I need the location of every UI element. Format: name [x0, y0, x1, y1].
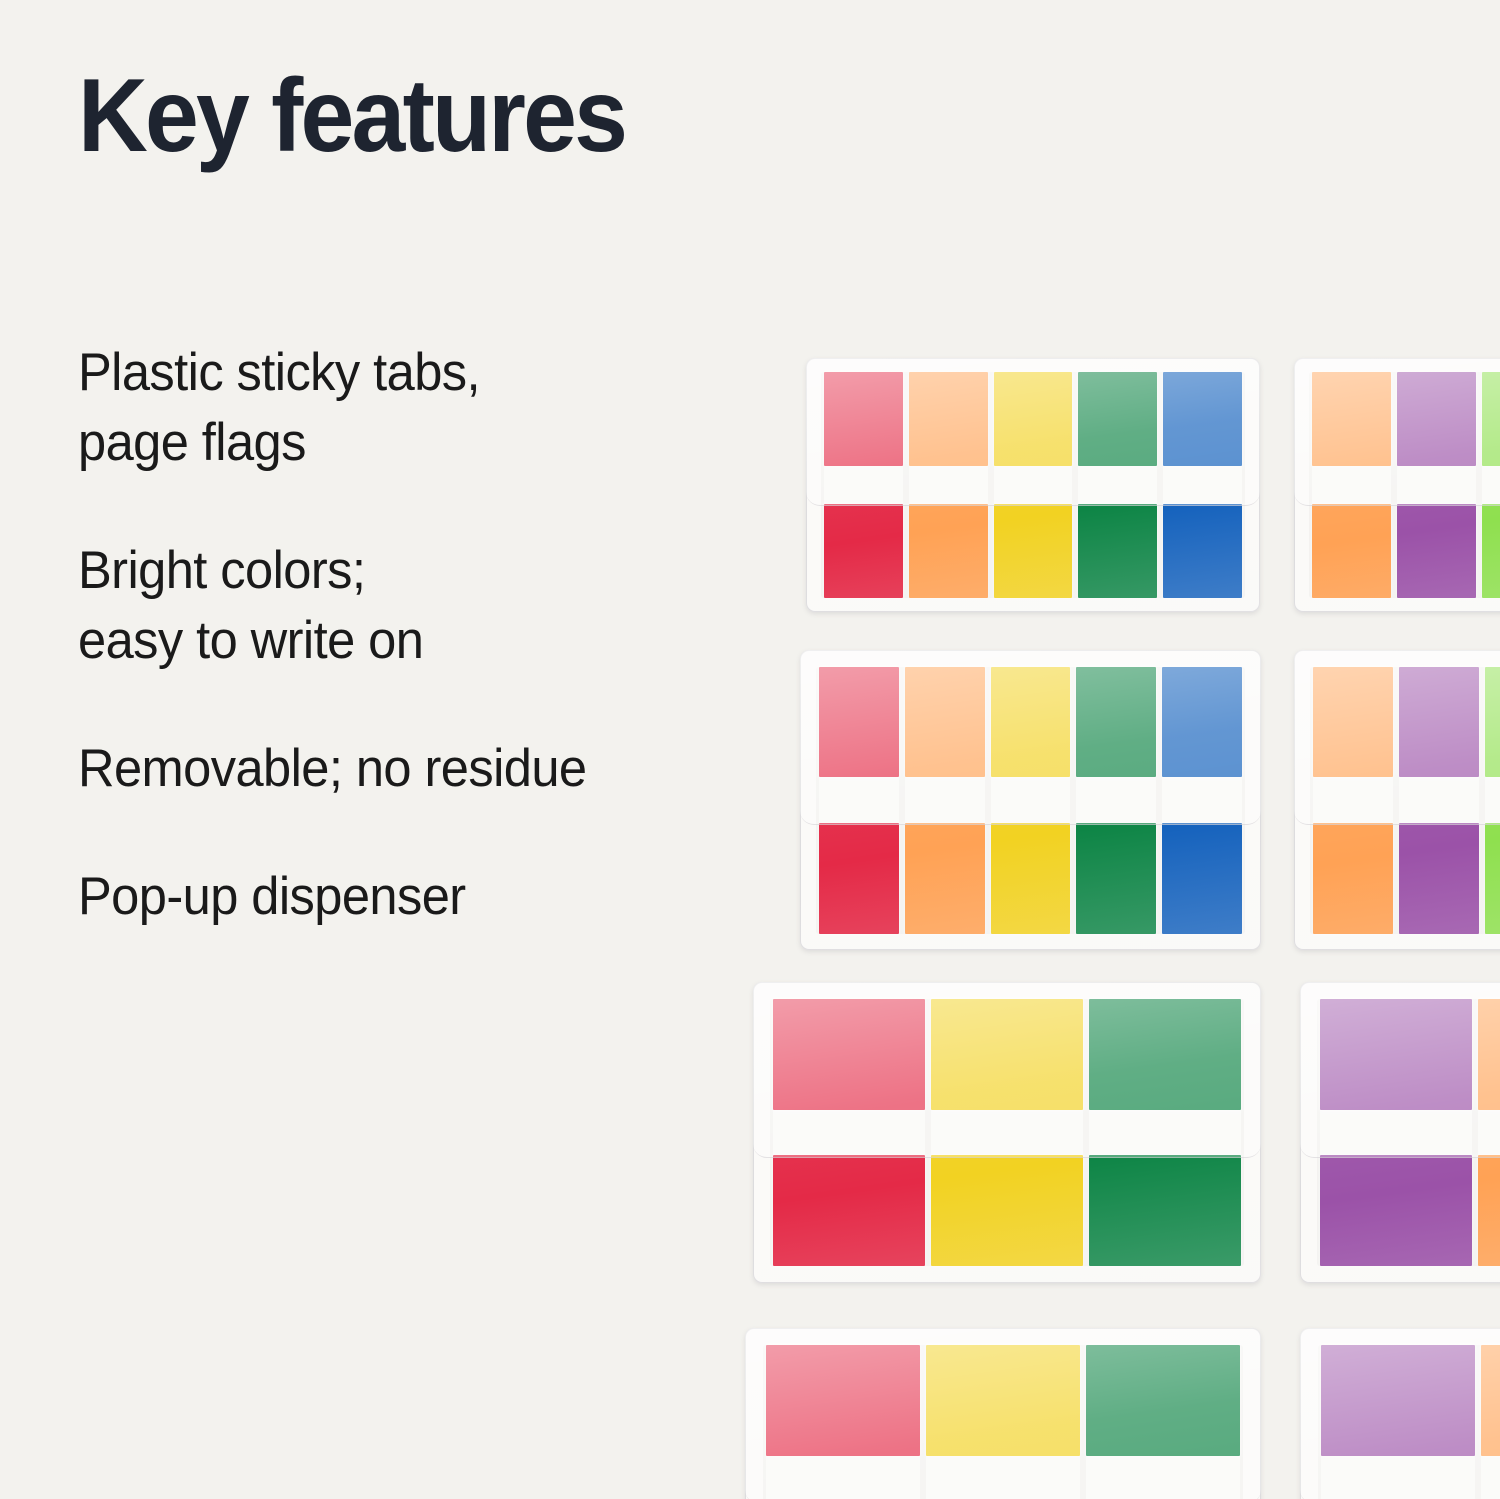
flag-bottom	[931, 1155, 1083, 1266]
feature-item-1: Plastic sticky tabs, page flags	[78, 338, 747, 478]
flag-column	[1310, 667, 1396, 934]
feature-text-column: Key features Plastic sticky tabs, page f…	[78, 0, 778, 1499]
flag-write-on-band	[819, 777, 899, 822]
flag-write-on-band	[1312, 466, 1391, 504]
flag-top	[1320, 999, 1472, 1110]
flag-top	[1482, 372, 1500, 466]
flag-column	[816, 667, 902, 934]
flag-bottom	[1078, 504, 1157, 598]
flag-bottom	[1313, 823, 1393, 934]
flag-column	[1083, 1345, 1243, 1499]
flag-column	[1317, 999, 1475, 1267]
flag-column	[1479, 372, 1500, 598]
flag-top	[991, 667, 1071, 778]
flag-column	[906, 372, 991, 598]
flag-bottom	[905, 823, 985, 934]
flag-bottom	[1162, 823, 1242, 934]
flag-write-on-band	[1485, 777, 1500, 822]
flag-bottom	[1485, 823, 1500, 934]
flag-bottom	[1399, 823, 1479, 934]
flag-top	[1078, 372, 1157, 466]
wide-flag-dispenser-bright-1	[1300, 982, 1500, 1283]
key-features-panel: Key features Plastic sticky tabs, page f…	[0, 0, 1500, 1499]
flag-bottom	[1163, 504, 1242, 598]
flag-top	[824, 372, 903, 466]
flag-column	[1309, 372, 1394, 598]
flag-column	[763, 1345, 923, 1499]
flag-column	[770, 999, 928, 1267]
flag-top	[1321, 1345, 1475, 1456]
flag-bottom	[909, 504, 988, 598]
flag-write-on-band	[1313, 777, 1393, 822]
flag-column	[1318, 1345, 1478, 1499]
flag-top	[773, 999, 925, 1110]
flag-top	[994, 372, 1073, 466]
flag-write-on-band	[1089, 1110, 1241, 1156]
flag-column	[923, 1345, 1083, 1499]
flag-top	[1163, 372, 1242, 466]
flag-columns	[1310, 667, 1500, 934]
flag-top	[1313, 667, 1393, 778]
feature-item-2: Bright colors; easy to write on	[78, 536, 747, 676]
feature-item-4: Pop-up dispenser	[78, 862, 747, 932]
flag-top	[1399, 667, 1479, 778]
flag-write-on-band	[1478, 1110, 1500, 1156]
flag-write-on-band	[1397, 466, 1476, 504]
flag-columns	[763, 1345, 1244, 1499]
flag-write-on-band	[931, 1110, 1083, 1156]
wide-flag-dispenser-bright-2	[1300, 1328, 1500, 1499]
flag-write-on-band	[1321, 1456, 1475, 1499]
flag-bottom	[991, 823, 1071, 934]
wide-flag-dispenser-classic-1	[753, 982, 1261, 1283]
flag-top	[766, 1345, 920, 1456]
flag-column	[1073, 667, 1159, 934]
flag-top	[819, 667, 899, 778]
flag-top	[909, 372, 988, 466]
flag-write-on-band	[909, 466, 988, 504]
flag-write-on-band	[1320, 1110, 1472, 1156]
flag-bottom	[1076, 823, 1156, 934]
flag-write-on-band	[1481, 1456, 1500, 1499]
flag-top	[1089, 999, 1241, 1110]
flag-write-on-band	[773, 1110, 925, 1156]
flag-column	[988, 667, 1074, 934]
flag-column	[1475, 999, 1500, 1267]
flag-column	[902, 667, 988, 934]
flag-top	[926, 1345, 1080, 1456]
flag-top	[1397, 372, 1476, 466]
flag-columns	[1317, 999, 1500, 1267]
flag-column	[821, 372, 906, 598]
flag-write-on-band	[824, 466, 903, 504]
flag-top	[1481, 1345, 1500, 1456]
flag-write-on-band	[766, 1456, 920, 1499]
flag-write-on-band	[994, 466, 1073, 504]
flag-columns	[821, 372, 1244, 598]
flag-column	[928, 999, 1086, 1267]
narrow-flag-dispenser-classic-1	[806, 358, 1260, 612]
flag-column	[1482, 667, 1500, 934]
flag-bottom	[819, 823, 899, 934]
flag-columns	[816, 667, 1246, 934]
narrow-flag-dispenser-bright-1	[1294, 358, 1500, 612]
flag-write-on-band	[1086, 1456, 1240, 1499]
narrow-flag-dispenser-classic-2	[800, 650, 1261, 950]
flag-top	[931, 999, 1083, 1110]
flag-bottom	[1089, 1155, 1241, 1266]
flag-columns	[770, 999, 1243, 1267]
flag-top	[1162, 667, 1242, 778]
flag-column	[1075, 372, 1160, 598]
feature-item-3: Removable; no residue	[78, 734, 747, 804]
flag-write-on-band	[1482, 466, 1500, 504]
flag-column	[1086, 999, 1244, 1267]
flag-top	[1086, 1345, 1240, 1456]
flag-write-on-band	[991, 777, 1071, 822]
flag-bottom	[1478, 1155, 1500, 1266]
page-title: Key features	[78, 64, 625, 168]
flag-column	[1396, 667, 1482, 934]
flag-write-on-band	[1399, 777, 1479, 822]
flag-top	[1478, 999, 1500, 1110]
flag-write-on-band	[1076, 777, 1156, 822]
flag-write-on-band	[1078, 466, 1157, 504]
flag-write-on-band	[1163, 466, 1242, 504]
flag-top	[905, 667, 985, 778]
flag-top	[1485, 667, 1500, 778]
flag-top	[1076, 667, 1156, 778]
flag-column	[991, 372, 1076, 598]
narrow-flag-dispenser-bright-2	[1294, 650, 1500, 950]
flag-bottom	[1312, 504, 1391, 598]
flag-column	[1478, 1345, 1500, 1499]
flag-bottom	[1320, 1155, 1472, 1266]
flag-bottom	[994, 504, 1073, 598]
flag-bottom	[1397, 504, 1476, 598]
flag-bottom	[824, 504, 903, 598]
flag-write-on-band	[905, 777, 985, 822]
flag-columns	[1309, 372, 1500, 598]
flag-columns	[1318, 1345, 1500, 1499]
flag-column	[1159, 667, 1245, 934]
flag-write-on-band	[1162, 777, 1242, 822]
feature-list: Plastic sticky tabs, page flags Bright c…	[78, 338, 778, 932]
flag-column	[1394, 372, 1479, 598]
flag-column	[1160, 372, 1245, 598]
flag-write-on-band	[926, 1456, 1080, 1499]
flag-top	[1312, 372, 1391, 466]
flag-bottom	[1482, 504, 1500, 598]
flag-bottom	[773, 1155, 925, 1266]
wide-flag-dispenser-classic-2	[745, 1328, 1261, 1499]
